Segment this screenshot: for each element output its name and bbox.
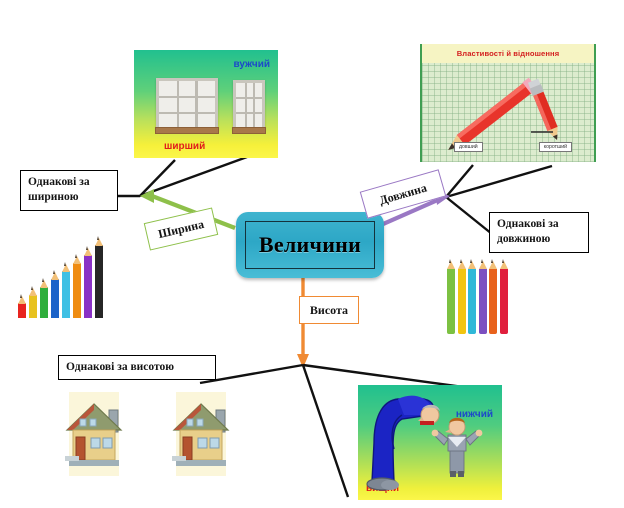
pencils-card-header-text: Властивості й відношення	[457, 49, 560, 58]
ascending-pencils-group	[18, 228, 122, 318]
equal-pencil	[447, 258, 455, 334]
result-box-same-width-line1: Однакові за	[28, 175, 110, 190]
house-right	[154, 392, 248, 476]
branch-label-height[interactable]: Висота	[299, 296, 359, 324]
branch-label-height-text: Висота	[310, 303, 348, 318]
central-node-frame: Величини	[245, 221, 375, 269]
ascending-pencil	[62, 260, 70, 318]
result-box-same-length-line2: довжиною	[497, 232, 581, 247]
ascending-pencil	[73, 252, 81, 318]
equal-pencil	[489, 258, 497, 334]
width-black-lines	[102, 157, 247, 196]
branch-label-length[interactable]: Довжина	[360, 169, 447, 219]
central-node-label: Величини	[259, 232, 361, 258]
pencil-tag-shorter: коротший	[539, 142, 572, 152]
card-people-height[interactable]: нижчий вищий	[358, 385, 502, 500]
result-box-same-height-line1: Однакові за висотою	[66, 360, 208, 375]
branch-label-width[interactable]: Ширина	[144, 207, 219, 250]
equal-pencil	[479, 258, 487, 334]
ascending-pencil	[40, 276, 48, 318]
ascending-pencil	[18, 292, 26, 318]
pencil-tag-longer: довший	[454, 142, 483, 152]
central-node[interactable]: Величини	[236, 212, 384, 278]
graph-paper-background: довший коротший	[422, 63, 594, 162]
house-left	[47, 392, 141, 476]
equal-pencils-group	[447, 258, 513, 336]
equal-pencil	[500, 258, 508, 334]
windows-label-narrower: вужчий	[233, 59, 270, 70]
card-windows-comparison[interactable]: вужчий ширший	[134, 50, 278, 158]
result-box-same-height[interactable]: Однакові за висотою	[58, 355, 216, 380]
equal-pencil	[458, 258, 466, 334]
window-wide-icon	[156, 78, 218, 130]
ascending-pencil	[29, 284, 37, 318]
card-pencils-length[interactable]: Властивості й відношення	[420, 44, 596, 162]
result-box-same-width-line2: шириною	[28, 190, 110, 205]
ascending-pencil	[51, 268, 59, 318]
branch-label-width-text: Ширина	[157, 216, 206, 241]
short-person-icon	[358, 385, 502, 500]
ascending-pencil	[95, 234, 103, 318]
branch-label-length-text: Довжина	[378, 180, 429, 208]
window-narrow-icon	[233, 80, 265, 130]
diagram-canvas: Величини Ширина Довжина Висота Однакові …	[0, 0, 624, 508]
result-box-same-length[interactable]: Однакові за довжиною	[489, 212, 589, 253]
result-box-same-width[interactable]: Однакові за шириною	[20, 170, 118, 211]
equal-pencil	[468, 258, 476, 334]
ascending-pencil	[84, 244, 92, 318]
windows-label-wider: ширший	[164, 141, 205, 152]
result-box-same-length-line1: Однакові за	[497, 217, 581, 232]
pencils-card-header: Властивості й відношення	[422, 44, 594, 64]
